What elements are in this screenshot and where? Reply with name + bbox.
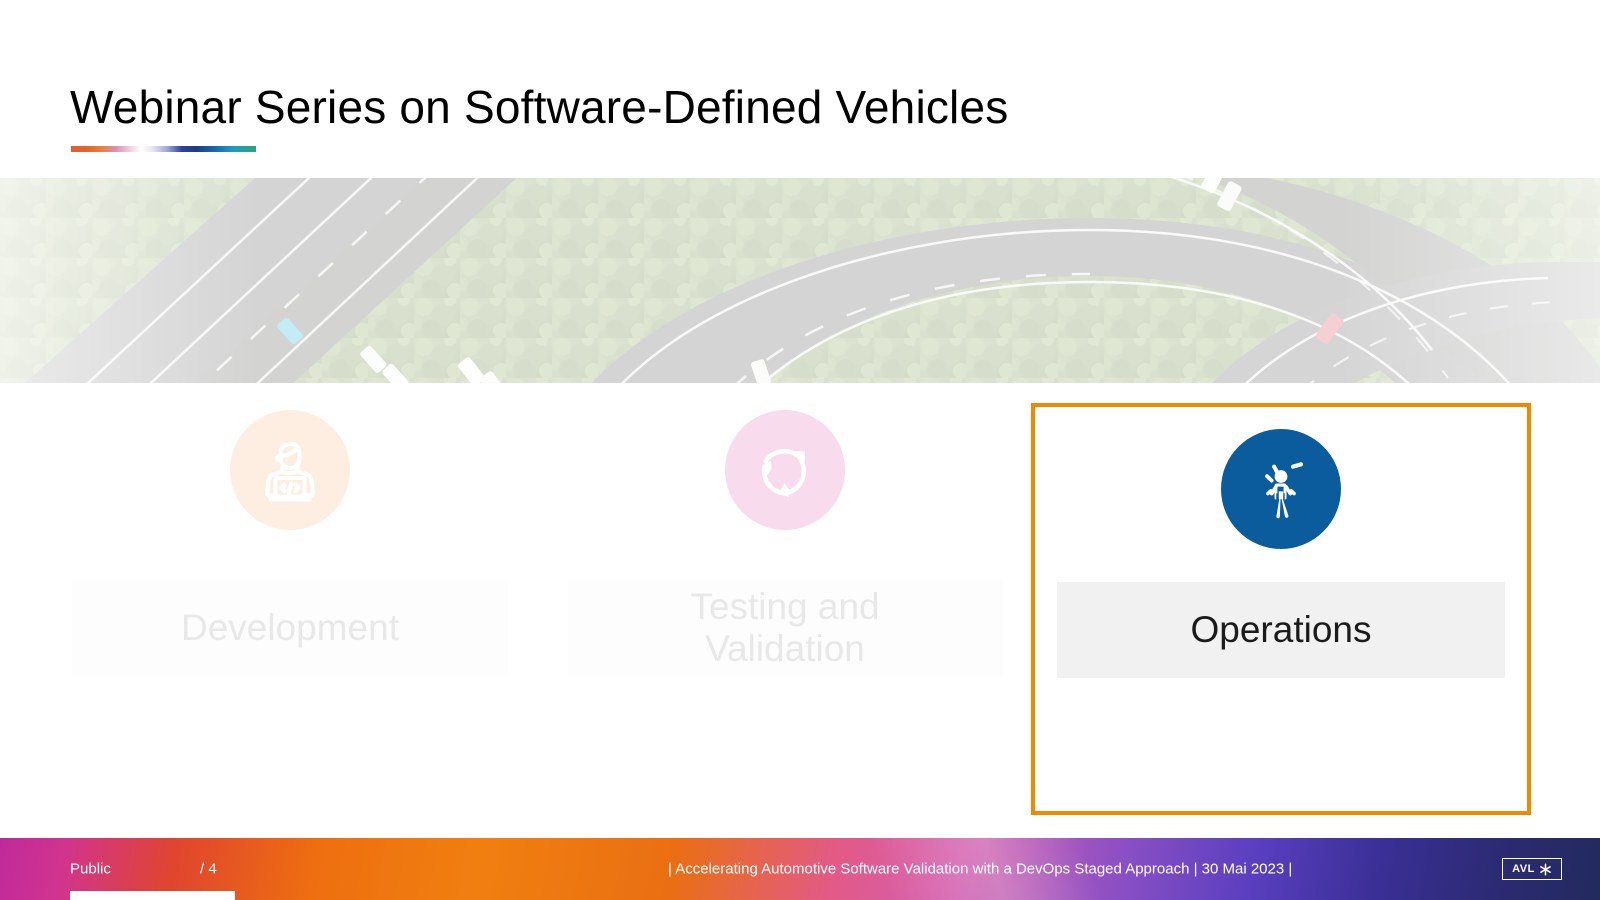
hero-banner-aerial-highway bbox=[0, 178, 1600, 383]
aerial-highway-illustration bbox=[0, 178, 1600, 383]
cycle-arrows-icon bbox=[725, 410, 845, 530]
title-accent-rule bbox=[71, 146, 256, 152]
stage-development[interactable]: Development bbox=[50, 383, 530, 833]
stage-label-operations: Operations bbox=[1057, 582, 1505, 678]
classification-label: Public bbox=[70, 861, 200, 878]
developer-laptop-icon bbox=[230, 410, 350, 530]
footer-presentation-info: | Accelerating Automotive Software Valid… bbox=[668, 861, 1292, 878]
stage-testing-and-validation[interactable]: Testing and Validation bbox=[545, 383, 1025, 833]
slide: Webinar Series on Software-Defined Vehic… bbox=[0, 0, 1600, 900]
progress-bar bbox=[70, 891, 235, 900]
slide-footer: Public / 4 | Accelerating Automotive Sof… bbox=[0, 838, 1600, 900]
stage-label-development: Development bbox=[72, 580, 508, 676]
avl-logo-text: AVL bbox=[1512, 864, 1535, 875]
stage-label-testing-line1: Testing and bbox=[690, 586, 879, 627]
page-number: / 4 bbox=[200, 861, 217, 878]
stage-label-testing: Testing and Validation bbox=[567, 580, 1003, 676]
stage-card-operations[interactable]: Operations bbox=[1031, 403, 1531, 815]
avl-logo: AVL bbox=[1502, 858, 1562, 880]
juggler-person-icon bbox=[1221, 429, 1341, 549]
footer-left-group: Public / 4 bbox=[70, 861, 217, 878]
stage-label-testing-line2: Validation bbox=[705, 628, 865, 669]
page-title: Webinar Series on Software-Defined Vehic… bbox=[70, 80, 1008, 134]
avl-snowflake-icon bbox=[1539, 863, 1552, 876]
